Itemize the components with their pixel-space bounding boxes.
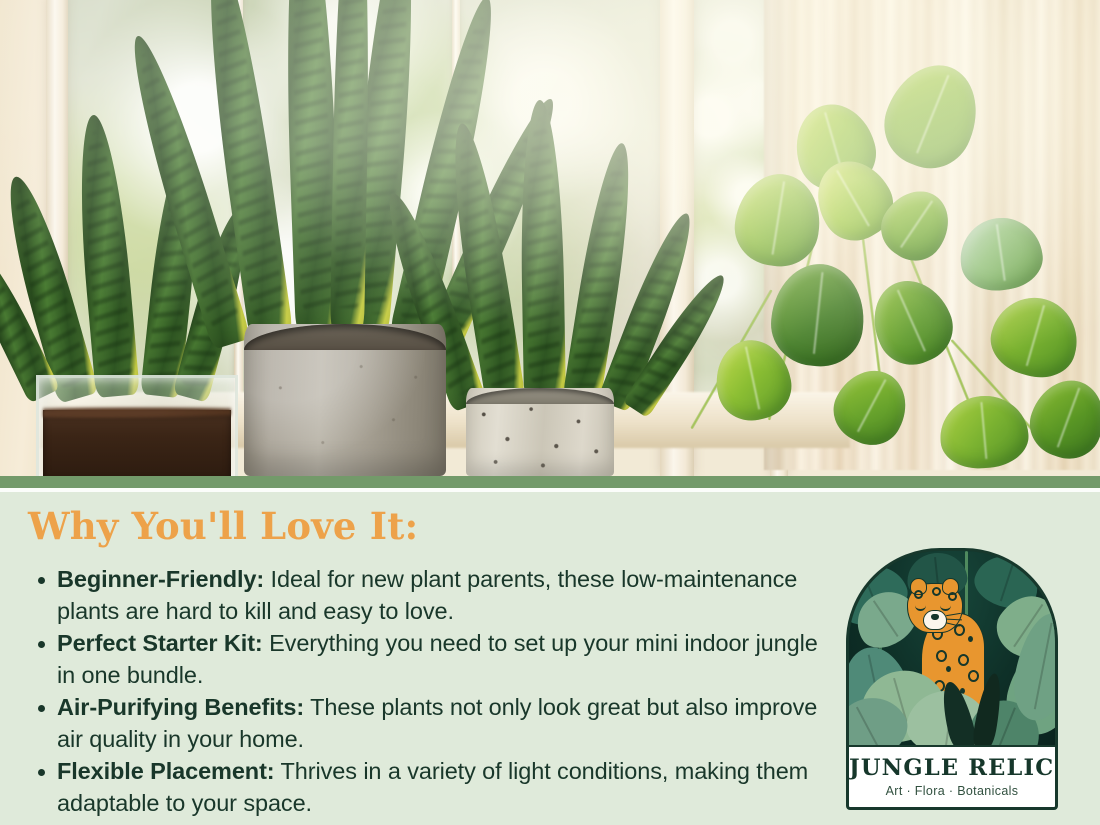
bullet-dot-icon xyxy=(38,641,45,648)
pothos-leaf xyxy=(983,288,1087,387)
pothos-leaf xyxy=(937,392,1031,471)
leopard-muzzle xyxy=(923,610,947,630)
brand-logo-badge[interactable]: JUNGLE RELICS Art · Flora · Botanicals xyxy=(846,548,1058,810)
leopard-head xyxy=(907,583,963,633)
leopard-eye xyxy=(940,604,951,611)
speckled-pot xyxy=(466,388,614,476)
pothos-leaf xyxy=(872,51,993,180)
pothos-leaf xyxy=(767,259,869,370)
bullet-dot-icon xyxy=(38,705,45,712)
benefit-lead: Beginner-Friendly: xyxy=(57,566,264,592)
leopard-eye xyxy=(915,604,926,611)
list-item: Flexible Placement: Thrives in a variety… xyxy=(30,756,820,819)
panel-heading: Why You'll Love It: xyxy=(28,504,418,548)
potting-soil xyxy=(43,410,231,476)
benefit-lead: Air-Purifying Benefits: xyxy=(57,694,304,720)
hero-photo xyxy=(0,0,1100,476)
benefit-lead: Perfect Starter Kit: xyxy=(57,630,263,656)
product-benefits-card: Why You'll Love It: Beginner-Friendly: I… xyxy=(0,0,1100,825)
list-item: Beginner-Friendly: Ideal for new plant p… xyxy=(30,564,820,627)
glass-pot xyxy=(36,375,238,476)
bullet-dot-icon xyxy=(38,577,45,584)
list-item: Perfect Starter Kit: Everything you need… xyxy=(30,628,820,691)
bullet-dot-icon xyxy=(38,769,45,776)
leopard-nose xyxy=(931,614,939,620)
pothos-leaf xyxy=(1021,370,1100,468)
golden-pothos-plant xyxy=(620,40,1100,476)
pothos-leaf xyxy=(955,213,1046,296)
brand-name: JUNGLE RELICS xyxy=(849,755,1055,781)
brand-tagline: Art · Flora · Botanicals xyxy=(849,784,1055,798)
logo-wordmark-block: JUNGLE RELICS Art · Flora · Botanicals xyxy=(849,745,1055,807)
concrete-pot xyxy=(244,324,446,476)
benefits-list: Beginner-Friendly: Ideal for new plant p… xyxy=(30,564,820,820)
list-item: Air-Purifying Benefits: These plants not… xyxy=(30,692,820,755)
green-divider-band xyxy=(0,476,1100,488)
pothos-leaf xyxy=(823,358,920,456)
benefit-lead: Flexible Placement: xyxy=(57,758,275,784)
leopard-jungle-illustration xyxy=(849,551,1055,747)
